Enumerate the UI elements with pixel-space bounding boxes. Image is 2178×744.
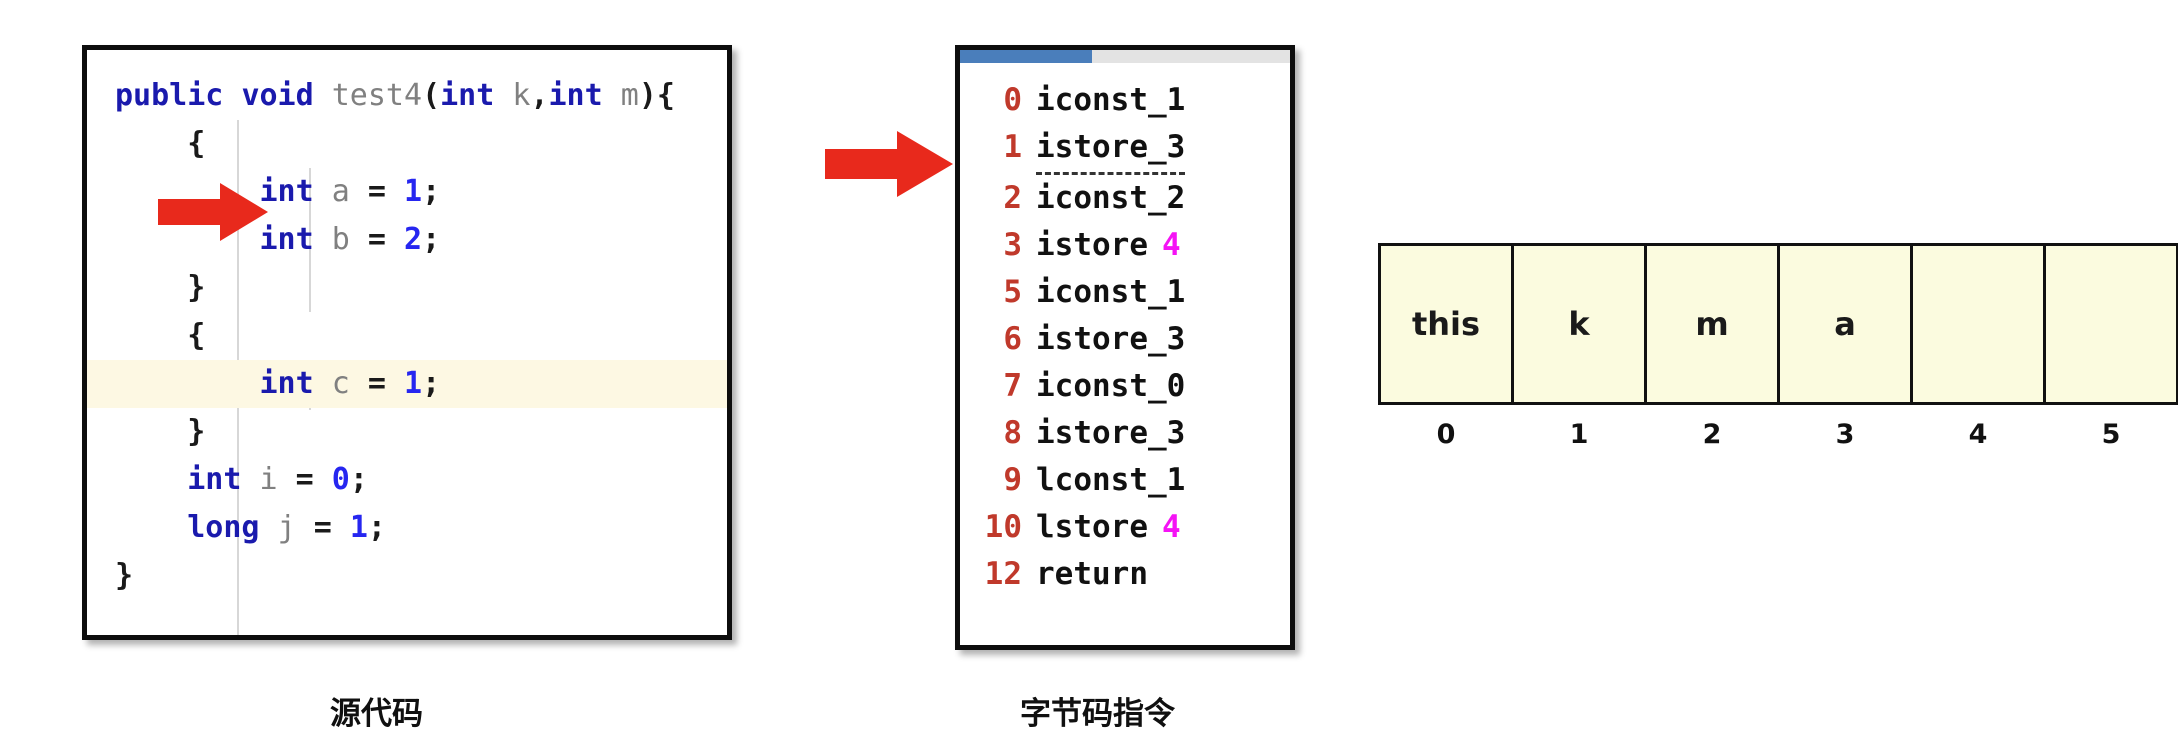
slot-cell: this bbox=[1378, 243, 1514, 405]
code-token-sp bbox=[386, 222, 404, 257]
code-token-kw: int bbox=[549, 78, 603, 113]
code-token-pun: { bbox=[187, 126, 205, 161]
code-line[interactable]: { bbox=[87, 120, 727, 168]
code-token-id: m bbox=[621, 78, 639, 113]
code-token-sp bbox=[314, 366, 332, 401]
bytecode-offset: 2 bbox=[960, 175, 1036, 222]
slot-cell bbox=[1910, 243, 2046, 405]
bytecode-offset: 6 bbox=[960, 316, 1036, 363]
code-token-sp bbox=[386, 366, 404, 401]
code-token-sp bbox=[223, 78, 241, 113]
code-line[interactable]: int c = 1; bbox=[87, 360, 727, 408]
code-token-pun: ) bbox=[639, 78, 657, 113]
code-token-pun: ; bbox=[350, 462, 368, 497]
slot-index-label: 0 bbox=[1378, 419, 1514, 450]
bytecode-offset: 10 bbox=[960, 504, 1036, 551]
code-token-pun: ; bbox=[422, 366, 440, 401]
code-line[interactable]: } bbox=[87, 264, 727, 312]
bytecode-row[interactable]: 8istore_3 bbox=[960, 410, 1290, 457]
bytecode-offset: 5 bbox=[960, 269, 1036, 316]
code-line[interactable]: } bbox=[87, 552, 727, 600]
bytecode-row[interactable]: 10lstore4 bbox=[960, 504, 1290, 551]
code-token-sp bbox=[314, 462, 332, 497]
bytecode-row[interactable]: 1istore_3 bbox=[960, 124, 1290, 175]
bytecode-row[interactable]: 12return bbox=[960, 551, 1290, 598]
bytecode-row[interactable]: 3istore4 bbox=[960, 222, 1290, 269]
bytecode-offset: 12 bbox=[960, 551, 1036, 598]
code-token-sp bbox=[296, 510, 314, 545]
code-token-num: 1 bbox=[404, 366, 422, 401]
bytecode-list: 0iconst_11istore_32iconst_23istore45icon… bbox=[960, 63, 1290, 598]
code-line[interactable]: { bbox=[87, 312, 727, 360]
code-token-id: test4 bbox=[332, 78, 422, 113]
code-line[interactable]: int i = 0; bbox=[87, 456, 727, 504]
bytecode-opcode: iconst_2 bbox=[1036, 175, 1185, 222]
code-line[interactable]: long j = 1; bbox=[87, 504, 727, 552]
slot-cell-row: thiskma bbox=[1378, 243, 2178, 405]
code-token-id: a bbox=[332, 174, 350, 209]
bytecode-row[interactable]: 9lconst_1 bbox=[960, 457, 1290, 504]
bytecode-opcode: iconst_1 bbox=[1036, 269, 1185, 316]
code-token-kw: int bbox=[440, 78, 494, 113]
slot-cell bbox=[2043, 243, 2178, 405]
code-token-num: 1 bbox=[350, 510, 368, 545]
bytecode-opcode: istore_3 bbox=[1036, 124, 1185, 175]
bytecode-operand: 4 bbox=[1148, 222, 1181, 269]
code-token-num: 0 bbox=[332, 462, 350, 497]
slot-cell: m bbox=[1644, 243, 1780, 405]
code-token-pun: ; bbox=[422, 174, 440, 209]
code-token-pun: } bbox=[187, 270, 205, 305]
code-token-pun: , bbox=[530, 78, 548, 113]
code-token-sp bbox=[314, 174, 332, 209]
code-token-sp bbox=[350, 222, 368, 257]
slot-cell: k bbox=[1511, 243, 1647, 405]
code-token-id: b bbox=[332, 222, 350, 257]
bytecode-row[interactable]: 0iconst_1 bbox=[960, 77, 1290, 124]
slot-table: thiskma 012345 bbox=[1378, 243, 2178, 450]
bytecode-offset: 8 bbox=[960, 410, 1036, 457]
scrollbar-thumb[interactable] bbox=[960, 50, 1092, 63]
slot-index-label: 5 bbox=[2043, 419, 2178, 450]
slot-index-row: 012345 bbox=[1378, 419, 2178, 450]
bytecode-offset: 1 bbox=[960, 124, 1036, 171]
code-token-pun: { bbox=[657, 78, 675, 113]
caption-bytecode: 字节码指令 bbox=[1020, 688, 1175, 733]
code-token-num: 2 bbox=[404, 222, 422, 257]
bytecode-opcode: istore_3 bbox=[1036, 410, 1185, 457]
bytecode-opcode: lstore bbox=[1036, 504, 1148, 551]
bytecode-opcode: return bbox=[1036, 551, 1148, 598]
code-token-op: = bbox=[368, 222, 386, 257]
code-token-kw: int bbox=[260, 366, 314, 401]
code-token-sp bbox=[350, 366, 368, 401]
code-token-pun: ; bbox=[422, 222, 440, 257]
code-token-pun: } bbox=[187, 414, 205, 449]
code-line[interactable]: public void test4(int k,int m){ bbox=[87, 72, 727, 120]
bytecode-row[interactable]: 2iconst_2 bbox=[960, 175, 1290, 222]
code-token-kw: long bbox=[187, 510, 259, 545]
code-token-sp bbox=[494, 78, 512, 113]
code-token-pun: { bbox=[187, 318, 205, 353]
code-token-op: = bbox=[296, 462, 314, 497]
code-token-op: = bbox=[368, 366, 386, 401]
bytecode-row[interactable]: 5iconst_1 bbox=[960, 269, 1290, 316]
code-token-sp bbox=[278, 462, 296, 497]
slot-index-label: 1 bbox=[1511, 419, 1647, 450]
code-token-sp bbox=[332, 510, 350, 545]
horizontal-scrollbar[interactable] bbox=[960, 50, 1290, 63]
code-token-kw: int bbox=[187, 462, 241, 497]
bytecode-opcode: lconst_1 bbox=[1036, 457, 1185, 504]
slot-index-label: 2 bbox=[1644, 419, 1780, 450]
code-token-num: 1 bbox=[404, 174, 422, 209]
bytecode-offset: 0 bbox=[960, 77, 1036, 124]
code-token-id: c bbox=[332, 366, 350, 401]
bytecode-operand: 4 bbox=[1148, 504, 1181, 551]
code-token-id: i bbox=[260, 462, 278, 497]
code-token-sp bbox=[260, 510, 278, 545]
code-token-pun: ; bbox=[368, 510, 386, 545]
source-code-panel[interactable]: public void test4(int k,int m){ { int a … bbox=[82, 45, 732, 640]
bytecode-opcode: istore_3 bbox=[1036, 316, 1185, 363]
code-token-op: = bbox=[368, 174, 386, 209]
red-arrow-icon-source bbox=[158, 181, 268, 243]
code-token-sp bbox=[241, 462, 259, 497]
bytecode-offset: 7 bbox=[960, 363, 1036, 410]
bytecode-offset: 3 bbox=[960, 222, 1036, 269]
slot-cell: a bbox=[1777, 243, 1913, 405]
code-lines: public void test4(int k,int m){ { int a … bbox=[87, 72, 727, 600]
bytecode-opcode: iconst_1 bbox=[1036, 77, 1185, 124]
bytecode-opcode: istore bbox=[1036, 222, 1148, 269]
code-token-sp bbox=[350, 174, 368, 209]
code-token-kw: void bbox=[241, 78, 313, 113]
code-token-op: = bbox=[314, 510, 332, 545]
bytecode-row[interactable]: 6istore_3 bbox=[960, 316, 1290, 363]
code-area[interactable]: public void test4(int k,int m){ { int a … bbox=[87, 50, 727, 635]
code-token-kw: public bbox=[115, 78, 223, 113]
code-token-pun: ( bbox=[422, 78, 440, 113]
code-token-pun: } bbox=[115, 558, 133, 593]
bytecode-offset: 9 bbox=[960, 457, 1036, 504]
bytecode-row[interactable]: 7iconst_0 bbox=[960, 363, 1290, 410]
code-token-sp bbox=[386, 174, 404, 209]
red-arrow-icon-flow bbox=[825, 128, 953, 200]
code-token-sp bbox=[314, 78, 332, 113]
code-token-id: k bbox=[512, 78, 530, 113]
code-line[interactable]: } bbox=[87, 408, 727, 456]
slot-index-label: 3 bbox=[1777, 419, 1913, 450]
code-token-sp bbox=[603, 78, 621, 113]
caption-source-code: 源代码 bbox=[330, 688, 423, 733]
code-token-sp bbox=[314, 222, 332, 257]
slot-index-label: 4 bbox=[1910, 419, 2046, 450]
code-token-id: j bbox=[278, 510, 296, 545]
bytecode-panel[interactable]: 0iconst_11istore_32iconst_23istore45icon… bbox=[955, 45, 1295, 650]
bytecode-opcode: iconst_0 bbox=[1036, 363, 1185, 410]
